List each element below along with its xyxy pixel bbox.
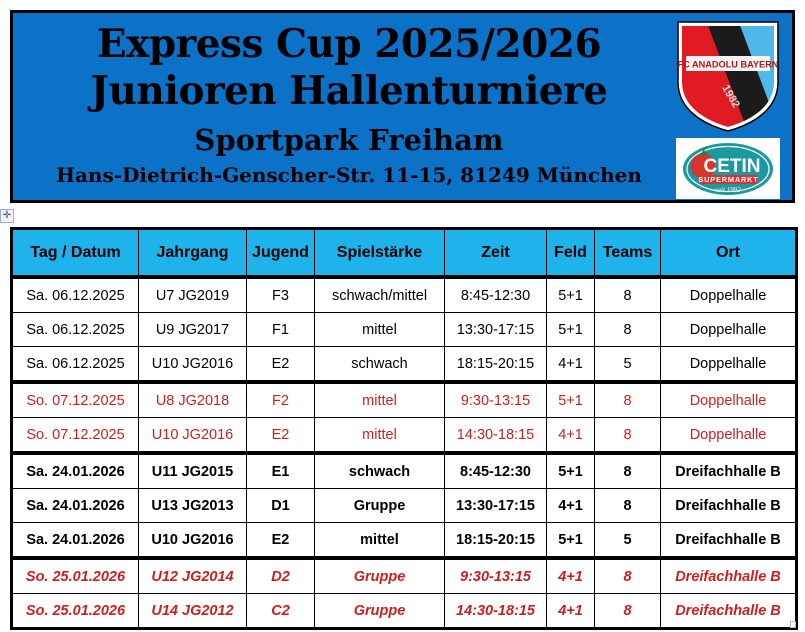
cell-spielstaerke: mittel — [315, 313, 445, 347]
cell-spielstaerke: schwach — [315, 453, 445, 489]
cell-ort: Dreifachhalle B — [661, 453, 797, 489]
banner-venue: Sportpark Freiham — [13, 122, 685, 158]
column-header-spielstaerke: Spielstärke — [315, 229, 445, 278]
cell-zeit: 9:30-13:15 — [445, 382, 547, 418]
cell-tag-datum: Sa. 24.01.2026 — [12, 453, 139, 489]
cell-jahrgang: U12 JG2014 — [139, 558, 247, 594]
column-header-tag-datum: Tag / Datum — [12, 229, 139, 278]
cell-feld: 5+1 — [547, 523, 595, 559]
cell-jahrgang: U9 JG2017 — [139, 313, 247, 347]
cell-spielstaerke: schwach — [315, 347, 445, 383]
cell-jahrgang: U10 JG2016 — [139, 523, 247, 559]
cell-jugend: F3 — [247, 277, 315, 313]
cell-teams: 8 — [595, 277, 661, 313]
cell-spielstaerke: schwach/mittel — [315, 277, 445, 313]
table-row: Sa. 24.01.2026U10 JG2016E2mittel18:15-20… — [12, 523, 797, 559]
banner-text-block: Express Cup 2025/2026 Junioren Hallentur… — [13, 13, 685, 200]
cell-feld: 4+1 — [547, 347, 595, 383]
cell-zeit: 14:30-18:15 — [445, 418, 547, 454]
table-row: So. 25.01.2026U14 JG2012C2Gruppe14:30-18… — [12, 594, 797, 629]
cell-ort: Doppelhalle — [661, 277, 797, 313]
cell-feld: 5+1 — [547, 277, 595, 313]
cell-teams: 8 — [595, 489, 661, 523]
column-header-jugend: Jugend — [247, 229, 315, 278]
table-move-handle-icon[interactable]: ✛ — [0, 209, 14, 223]
cell-ort: Dreifachhalle B — [661, 594, 797, 629]
column-header-feld: Feld — [547, 229, 595, 278]
cell-jahrgang: U10 JG2016 — [139, 418, 247, 454]
cell-ort: Dreifachhalle B — [661, 489, 797, 523]
cell-zeit: 13:30-17:15 — [445, 313, 547, 347]
banner-title-line1: Express Cup 2025/2026 — [13, 20, 685, 69]
column-header-ort: Ort — [661, 229, 797, 278]
cell-tag-datum: Sa. 06.12.2025 — [12, 313, 139, 347]
cell-teams: 5 — [595, 523, 661, 559]
cell-zeit: 18:15-20:15 — [445, 523, 547, 559]
column-header-zeit: Zeit — [445, 229, 547, 278]
cell-ort: Doppelhalle — [661, 418, 797, 454]
event-banner: Express Cup 2025/2026 Junioren Hallentur… — [10, 10, 795, 203]
cell-ort: Doppelhalle — [661, 313, 797, 347]
crest-club-name: FC ANADOLU BAYERN — [678, 60, 779, 70]
cell-jahrgang: U8 JG2018 — [139, 382, 247, 418]
cell-tag-datum: Sa. 24.01.2026 — [12, 489, 139, 523]
cetin-since-text: seit 1992 — [715, 186, 741, 194]
schedule-table-container: Tag / Datum Jahrgang Jugend Spielstärke … — [10, 227, 795, 630]
cell-teams: 8 — [595, 453, 661, 489]
column-header-jahrgang: Jahrgang — [139, 229, 247, 278]
cell-zeit: 8:45-12:30 — [445, 277, 547, 313]
cell-spielstaerke: Gruppe — [315, 558, 445, 594]
table-row: So. 07.12.2025U8 JG2018F2mittel9:30-13:1… — [12, 382, 797, 418]
cell-ort: Dreifachhalle B — [661, 523, 797, 559]
cell-zeit: 9:30-13:15 — [445, 558, 547, 594]
table-row: Sa. 24.01.2026U11 JG2015E1schwach8:45-12… — [12, 453, 797, 489]
cell-jugend: E2 — [247, 418, 315, 454]
cell-zeit: 13:30-17:15 — [445, 489, 547, 523]
table-row: Sa. 06.12.2025U9 JG2017F1mittel13:30-17:… — [12, 313, 797, 347]
cell-tag-datum: Sa. 06.12.2025 — [12, 277, 139, 313]
cell-tag-datum: So. 25.01.2026 — [12, 558, 139, 594]
cell-feld: 5+1 — [547, 382, 595, 418]
cell-jahrgang: U10 JG2016 — [139, 347, 247, 383]
cell-jahrgang: U14 JG2012 — [139, 594, 247, 629]
fc-anadolu-bayern-crest-icon: FC ANADOLU BAYERN 1982 — [676, 20, 780, 132]
cell-feld: 4+1 — [547, 489, 595, 523]
cell-jahrgang: U11 JG2015 — [139, 453, 247, 489]
cell-teams: 8 — [595, 558, 661, 594]
cell-jugend: D2 — [247, 558, 315, 594]
cell-feld: 4+1 — [547, 594, 595, 629]
cell-tag-datum: Sa. 06.12.2025 — [12, 347, 139, 383]
cell-feld: 4+1 — [547, 558, 595, 594]
table-header-row: Tag / Datum Jahrgang Jugend Spielstärke … — [12, 229, 797, 278]
cell-spielstaerke: Gruppe — [315, 489, 445, 523]
cell-teams: 8 — [595, 594, 661, 629]
cell-jugend: F1 — [247, 313, 315, 347]
cell-tag-datum: So. 07.12.2025 — [12, 382, 139, 418]
cell-spielstaerke: mittel — [315, 382, 445, 418]
page-corner-marker — [790, 621, 796, 628]
cell-ort: Doppelhalle — [661, 347, 797, 383]
cell-spielstaerke: mittel — [315, 418, 445, 454]
banner-address: Hans-Dietrich-Genscher-Str. 11-15, 81249… — [13, 162, 685, 188]
cetin-brand-text: CETIN — [704, 156, 761, 177]
table-row: So. 07.12.2025U10 JG2016E2mittel14:30-18… — [12, 418, 797, 454]
cell-tag-datum: Sa. 24.01.2026 — [12, 523, 139, 559]
table-row: Sa. 06.12.2025U7 JG2019F3schwach/mittel8… — [12, 277, 797, 313]
cell-jahrgang: U7 JG2019 — [139, 277, 247, 313]
cell-jugend: E2 — [247, 347, 315, 383]
banner-title-line2: Junioren Hallenturniere — [13, 67, 685, 116]
table-row: Sa. 06.12.2025U10 JG2016E2schwach18:15-2… — [12, 347, 797, 383]
cell-teams: 8 — [595, 418, 661, 454]
cell-ort: Dreifachhalle B — [661, 558, 797, 594]
table-row: So. 25.01.2026U12 JG2014D2Gruppe9:30-13:… — [12, 558, 797, 594]
cell-teams: 8 — [595, 382, 661, 418]
cell-spielstaerke: mittel — [315, 523, 445, 559]
cetin-supermarkt-logo: CETIN SUPERMARKT seit 1992 — [676, 138, 780, 199]
cell-zeit: 14:30-18:15 — [445, 594, 547, 629]
cell-jugend: C2 — [247, 594, 315, 629]
schedule-table: Tag / Datum Jahrgang Jugend Spielstärke … — [10, 227, 798, 630]
cell-teams: 8 — [595, 313, 661, 347]
cell-tag-datum: So. 25.01.2026 — [12, 594, 139, 629]
column-header-teams: Teams — [595, 229, 661, 278]
cell-zeit: 8:45-12:30 — [445, 453, 547, 489]
schedule-table-body: Sa. 06.12.2025U7 JG2019F3schwach/mittel8… — [12, 277, 797, 629]
cell-jugend: F2 — [247, 382, 315, 418]
cell-jugend: E2 — [247, 523, 315, 559]
cetin-sub-text: SUPERMARKT — [698, 175, 758, 184]
cell-spielstaerke: Gruppe — [315, 594, 445, 629]
cell-tag-datum: So. 07.12.2025 — [12, 418, 139, 454]
cell-feld: 5+1 — [547, 453, 595, 489]
cell-zeit: 18:15-20:15 — [445, 347, 547, 383]
cell-jahrgang: U13 JG2013 — [139, 489, 247, 523]
cell-jugend: E1 — [247, 453, 315, 489]
cell-jugend: D1 — [247, 489, 315, 523]
cell-feld: 4+1 — [547, 418, 595, 454]
cell-ort: Doppelhalle — [661, 382, 797, 418]
table-row: Sa. 24.01.2026U13 JG2013D1Gruppe13:30-17… — [12, 489, 797, 523]
cell-teams: 5 — [595, 347, 661, 383]
cell-feld: 5+1 — [547, 313, 595, 347]
